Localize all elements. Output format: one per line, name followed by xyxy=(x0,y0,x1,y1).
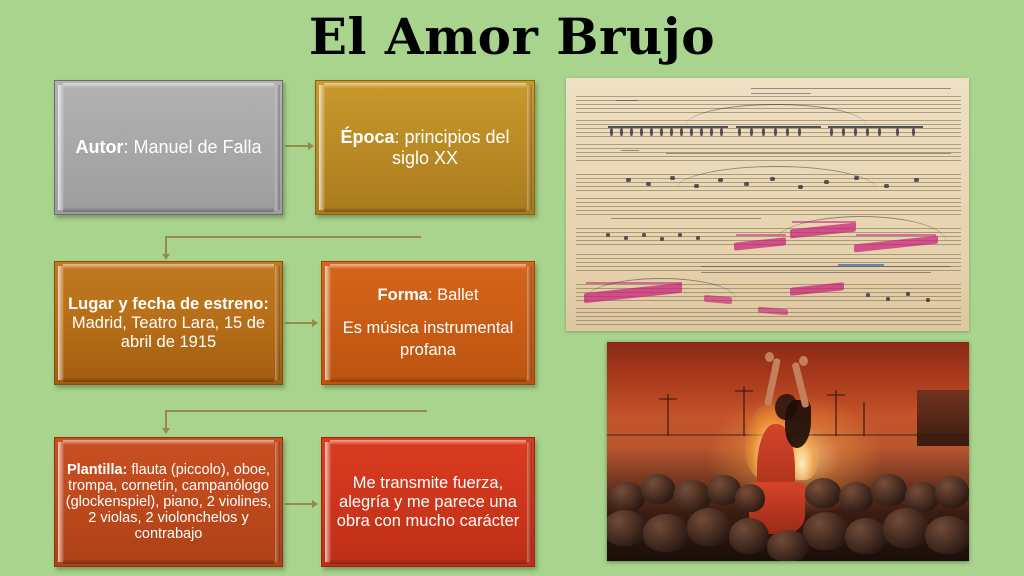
slide-canvas: El Amor Brujo Autor: Manuel de Falla Épo… xyxy=(0,0,1024,576)
box-forma-line1: Forma: Ballet xyxy=(332,285,524,306)
bevel-top xyxy=(324,83,526,88)
box-epoca[interactable]: Época: principios del siglo XX xyxy=(315,80,535,215)
manuscript-score-image xyxy=(566,78,969,331)
box-autor-value: : Manuel de Falla xyxy=(123,137,261,157)
box-epoca-value: : principios del siglo XX xyxy=(392,127,510,168)
box-plantilla-text: Plantilla: flauta (piccolo), oboe, tromp… xyxy=(65,462,272,542)
box-epoca-text: Época: principios del siglo XX xyxy=(326,127,524,169)
bevel-bottom xyxy=(63,559,274,564)
connector-forma-to-plantilla-vline xyxy=(165,410,167,430)
box-estreno-label: Lugar y fecha de estreno: xyxy=(68,295,269,313)
connector-epoca-to-estreno-hline xyxy=(165,236,421,238)
connector-epoca-to-estreno-arrowhead xyxy=(162,254,170,260)
box-opinion-text: Me transmite fuerza, alegría y me parece… xyxy=(332,474,524,531)
connector-estreno-to-forma-arrowhead xyxy=(312,319,318,327)
connector-autor-to-epoca-line xyxy=(285,145,309,147)
box-autor-label: Autor xyxy=(75,137,123,157)
box-forma-label: Forma xyxy=(378,286,428,304)
box-plantilla[interactable]: Plantilla: flauta (piccolo), oboe, tromp… xyxy=(54,437,283,567)
box-autor[interactable]: Autor: Manuel de Falla xyxy=(54,80,283,215)
bevel-top xyxy=(330,440,526,445)
connector-forma-to-plantilla-hline xyxy=(165,410,427,412)
connector-autor-to-epoca-arrowhead xyxy=(308,142,314,150)
box-epoca-label: Época xyxy=(340,127,394,147)
box-forma-line2: Es música instrumental profana xyxy=(332,318,524,360)
bevel-bottom xyxy=(324,207,526,212)
flamenco-dancer-image xyxy=(607,342,969,561)
box-estreno-text: Lugar y fecha de estreno: Madrid, Teatro… xyxy=(65,295,272,352)
box-autor-text: Autor: Manuel de Falla xyxy=(75,137,261,158)
bevel-top xyxy=(330,264,526,269)
bevel-bottom xyxy=(330,559,526,564)
box-lugar-y-fecha-de-estreno[interactable]: Lugar y fecha de estreno: Madrid, Teatro… xyxy=(54,261,283,385)
box-forma-text: Forma: Ballet Es música instrumental pro… xyxy=(332,285,524,360)
bevel-top xyxy=(63,83,274,88)
page-title: El Amor Brujo xyxy=(0,8,1024,66)
connector-plantilla-to-opinion-line xyxy=(285,503,313,505)
bevel-bottom xyxy=(63,377,274,382)
box-forma-value: : Ballet xyxy=(428,286,478,304)
bevel-top xyxy=(63,264,274,269)
connector-plantilla-to-opinion-arrowhead xyxy=(312,500,318,508)
box-opinion-personal[interactable]: Me transmite fuerza, alegría y me parece… xyxy=(321,437,535,567)
connector-estreno-to-forma-line xyxy=(285,322,313,324)
bevel-bottom xyxy=(63,207,274,212)
box-estreno-value: Madrid, Teatro Lara, 15 de abril de 1915 xyxy=(72,314,265,351)
box-plantilla-label: Plantilla: xyxy=(67,462,127,478)
bevel-top xyxy=(63,440,274,445)
connector-epoca-to-estreno-vline xyxy=(165,236,167,256)
box-forma[interactable]: Forma: Ballet Es música instrumental pro… xyxy=(321,261,535,385)
bevel-bottom xyxy=(330,377,526,382)
connector-forma-to-plantilla-arrowhead xyxy=(162,428,170,434)
